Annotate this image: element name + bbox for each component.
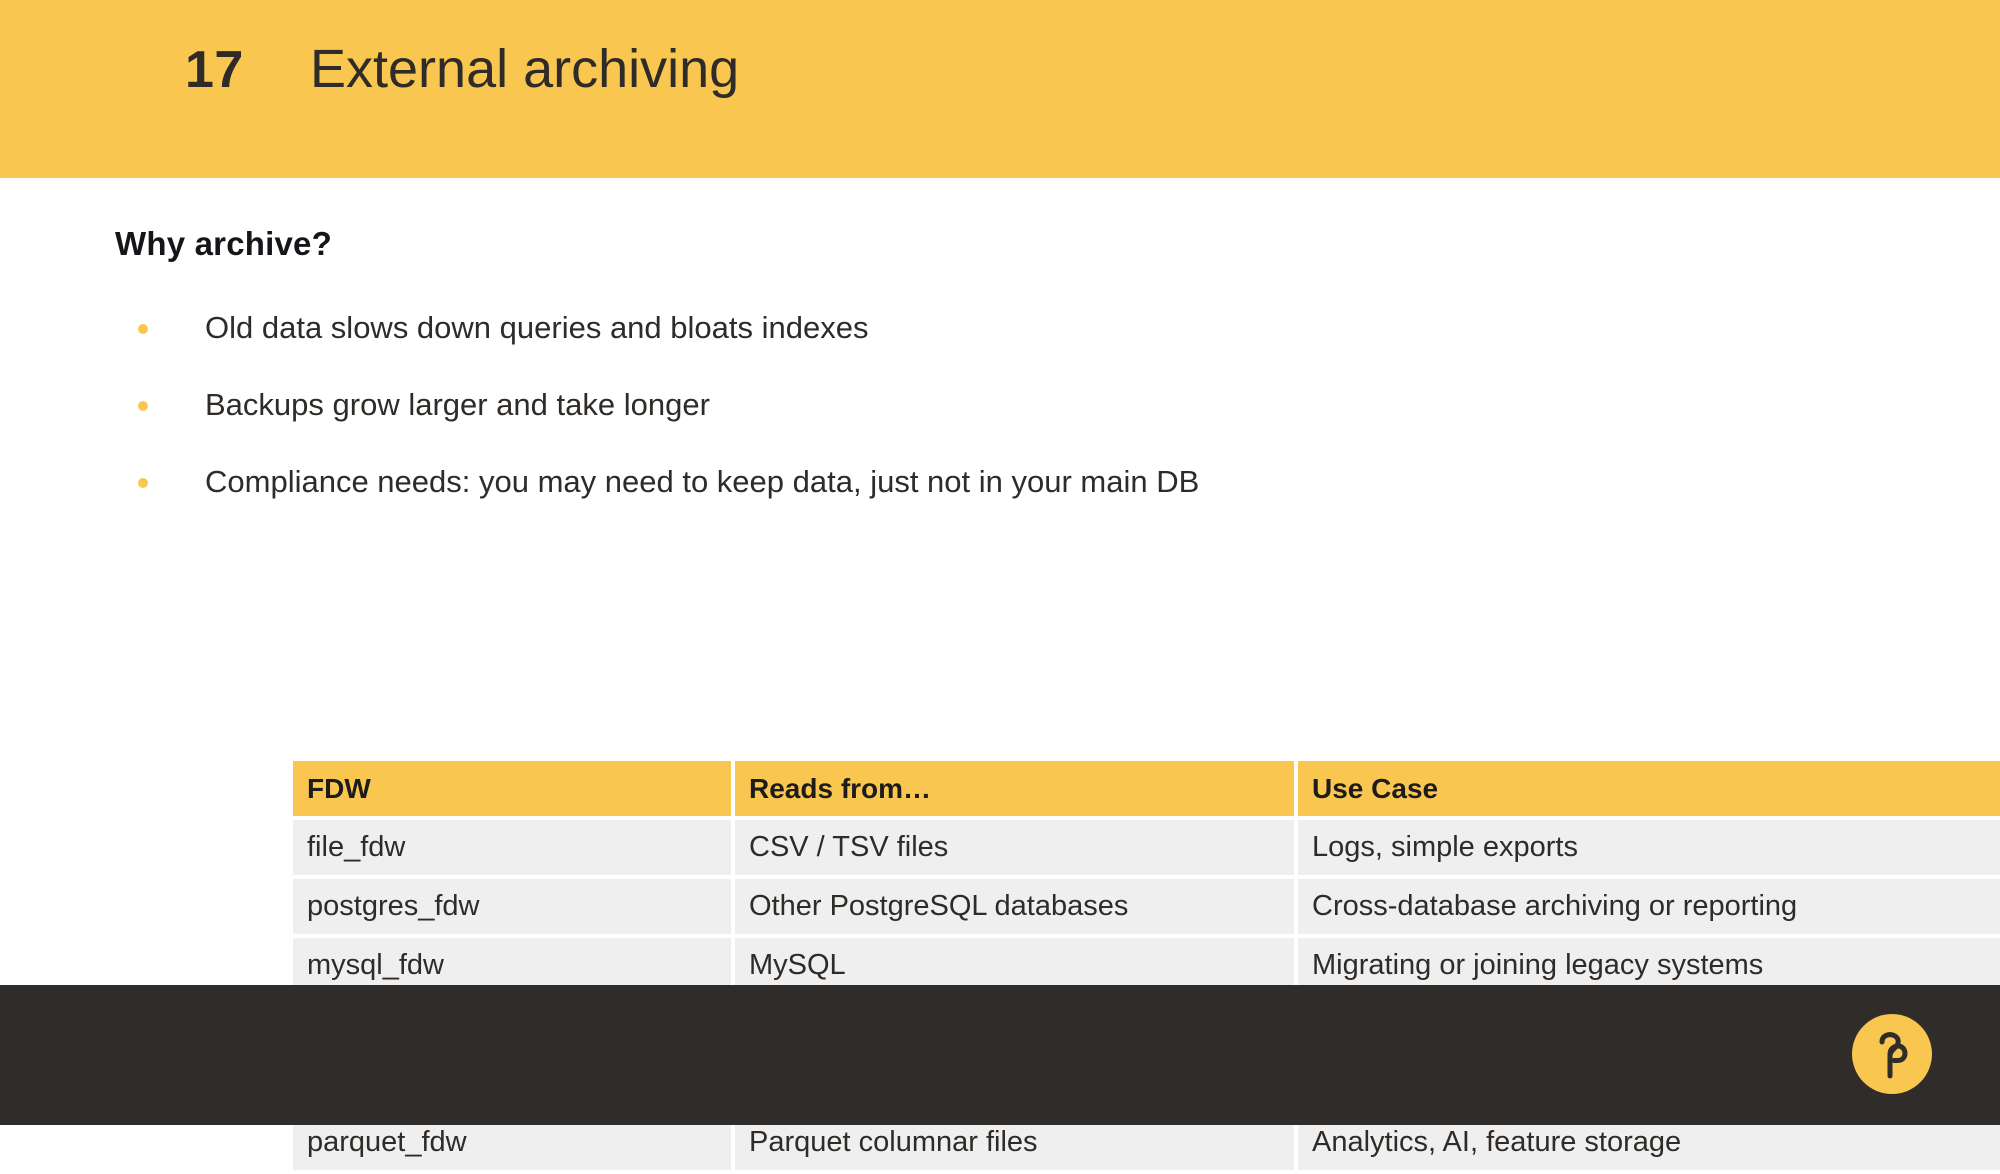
slide-header-content: 17 External archiving	[185, 42, 739, 96]
table-cell-reads-from: CSV / TSV files	[735, 820, 1294, 875]
list-item: Old data slows down queries and bloats i…	[115, 310, 1815, 387]
list-item-label: Backups grow larger and take longer	[205, 387, 710, 423]
brand-logo	[1852, 1014, 1932, 1094]
list-item-label: Old data slows down queries and bloats i…	[205, 310, 868, 346]
table-row: postgres_fdw Other PostgreSQL databases …	[293, 879, 2000, 934]
table-cell-fdw: postgres_fdw	[293, 879, 731, 934]
list-item: Compliance needs: you may need to keep d…	[115, 464, 1815, 541]
table-column-header-fdw: FDW	[293, 761, 731, 816]
table-header-row: FDW Reads from… Use Case	[293, 761, 2000, 816]
slide-header-band: 17 External archiving	[0, 0, 2000, 178]
list-item-label: Compliance needs: you may need to keep d…	[205, 464, 1199, 500]
table-cell-use-case: Cross-database archiving or reporting	[1298, 879, 2000, 934]
table-cell-reads-from: Other PostgreSQL databases	[735, 879, 1294, 934]
page-title: External archiving	[310, 42, 739, 96]
slide-number: 17	[185, 44, 310, 96]
elephant-logo-icon	[1868, 1028, 1916, 1080]
bullet-dot-icon	[138, 478, 148, 488]
table-row: file_fdw CSV / TSV files Logs, simple ex…	[293, 820, 2000, 875]
slide-footer-band	[0, 985, 2000, 1125]
bullet-list: Old data slows down queries and bloats i…	[115, 310, 1815, 541]
section-heading: Why archive?	[115, 225, 332, 263]
table-column-header-use-case: Use Case	[1298, 761, 2000, 816]
table-cell-use-case: Logs, simple exports	[1298, 820, 2000, 875]
bullet-dot-icon	[138, 324, 148, 334]
bullet-dot-icon	[138, 401, 148, 411]
table-column-header-reads-from: Reads from…	[735, 761, 1294, 816]
table-cell-fdw: file_fdw	[293, 820, 731, 875]
list-item: Backups grow larger and take longer	[115, 387, 1815, 464]
